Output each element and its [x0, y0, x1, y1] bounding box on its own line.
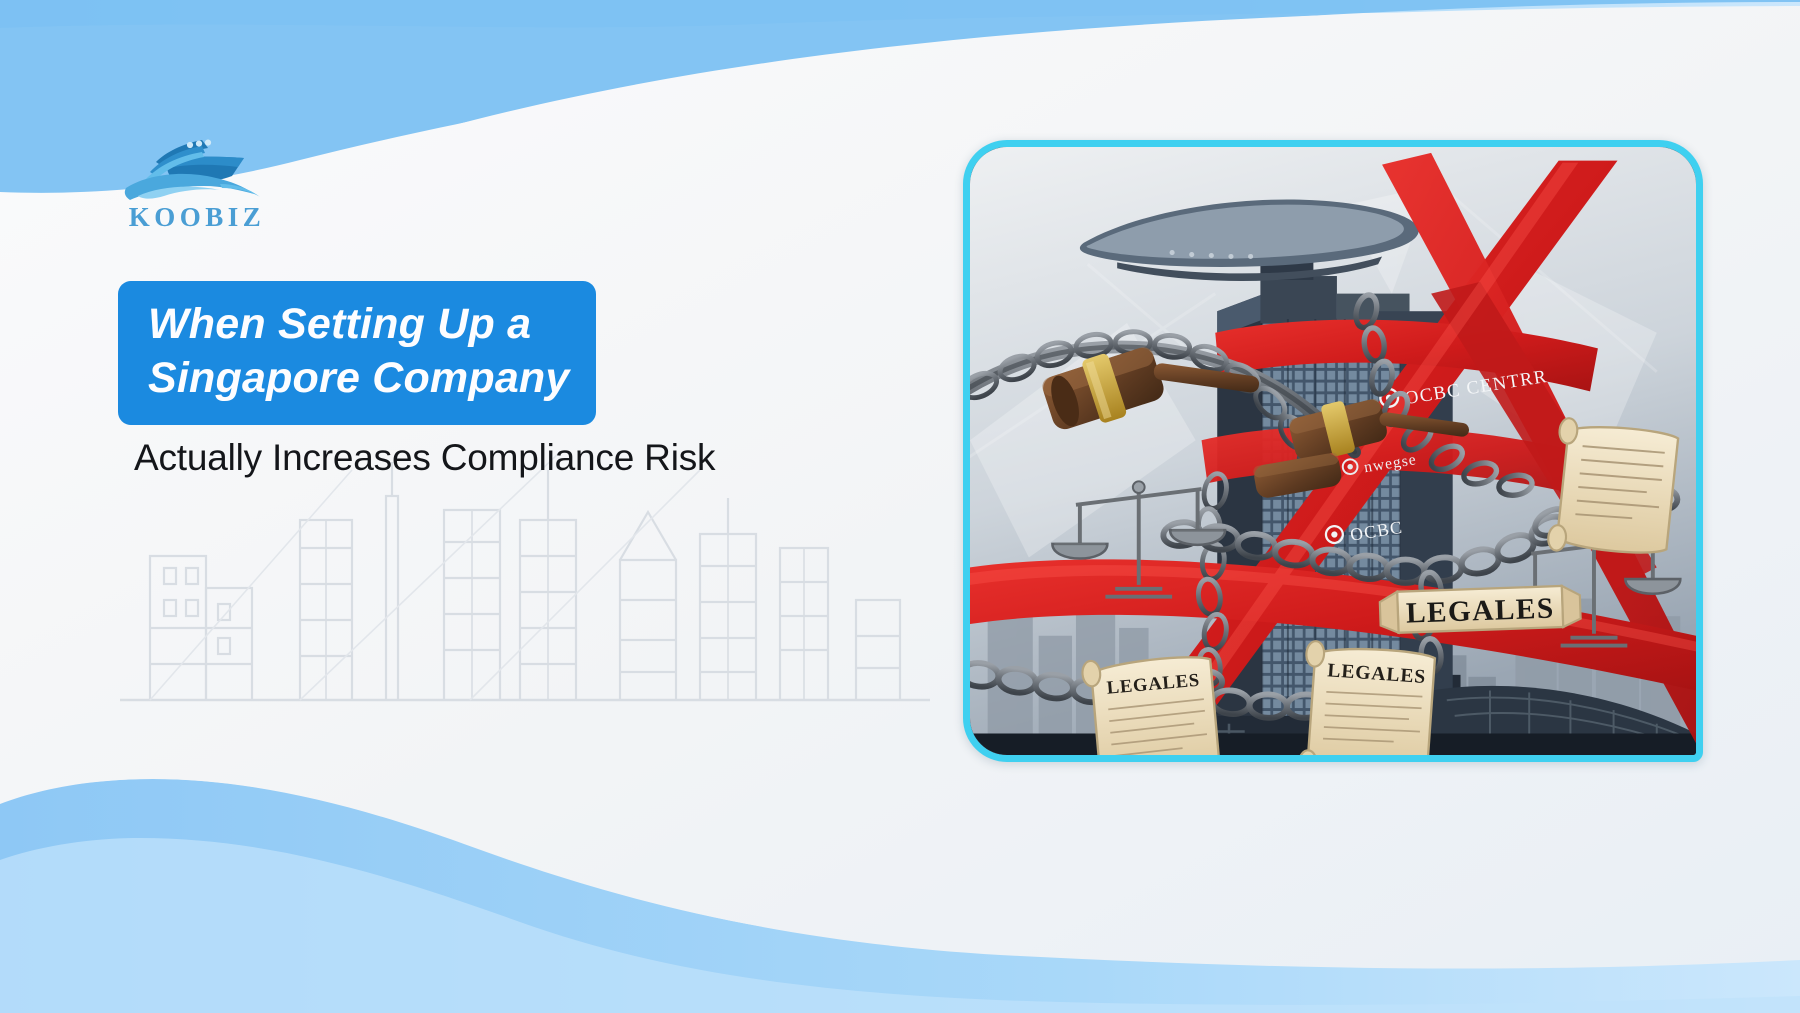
brand-logo[interactable]: KOOBIZ — [112, 126, 282, 238]
svg-text:LEGALES: LEGALES — [1405, 593, 1555, 630]
chained-skyscraper-scene: OCBC CENTRR nwegse OCBC — [970, 147, 1696, 755]
legal-scroll-icon — [1547, 417, 1679, 562]
legal-scroll-icon: LEGALES — [1298, 641, 1436, 755]
yacht-wave-icon — [112, 126, 282, 204]
hero-illustration: OCBC CENTRR nwegse OCBC — [963, 140, 1703, 762]
headline-line-1: When Setting Up a — [148, 297, 570, 351]
brand-wordmark: KOOBIZ — [112, 202, 282, 233]
headline-line-2: Singapore Company — [148, 351, 570, 405]
subtitle-text: Actually Increases Compliance Risk — [134, 437, 715, 479]
headline-badge: When Setting Up a Singapore Company — [118, 281, 596, 425]
banner-canvas: KOOBIZ When Setting Up a Singapore Compa… — [0, 0, 1800, 1013]
legales-banner: LEGALES — [1379, 585, 1580, 633]
